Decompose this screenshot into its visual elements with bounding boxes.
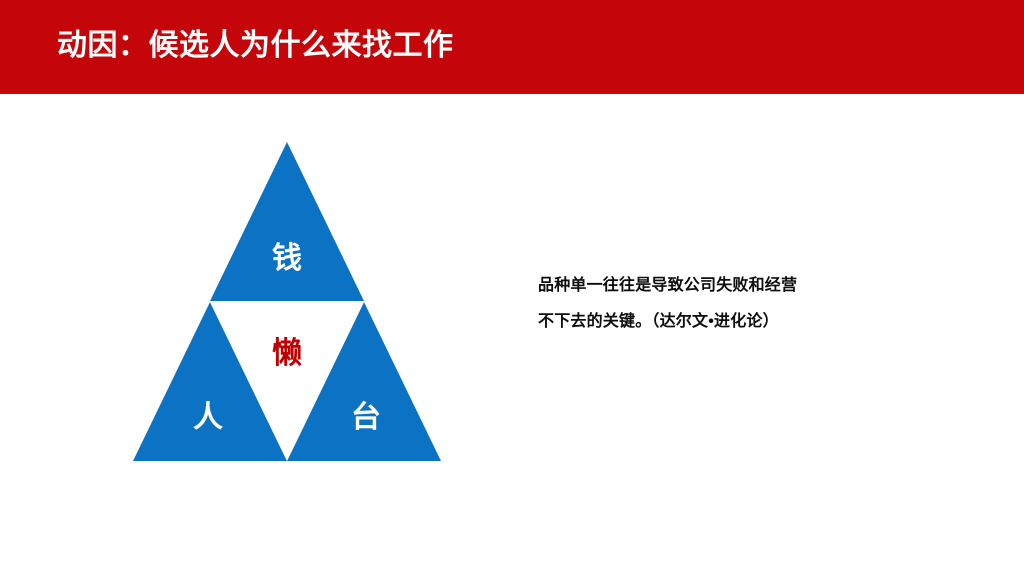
triangle-segment-center-label: 懒	[272, 337, 302, 370]
body-text-block: 品种单一往往是导致公司失败和经营 不下去的关键。（达尔文•进化论）	[538, 268, 878, 340]
body-text-line-2: 不下去的关键。（达尔文•进化论）	[538, 304, 878, 340]
triangle-segment-top[interactable]	[210, 142, 364, 301]
triangle-diagram: 钱 人 台 懒	[128, 136, 448, 468]
triangle-segment-bottom-right-label: 台	[351, 400, 381, 434]
triangle-segment-top-label: 钱	[272, 242, 302, 275]
slide-canvas: 动因：候选人为什么来找工作 钱 人 台 懒 品种单一往往是导致公司失败和经营 不…	[0, 0, 1024, 580]
title-bar: 动因：候选人为什么来找工作	[0, 0, 1024, 94]
page-title: 动因：候选人为什么来找工作	[57, 26, 454, 66]
body-text-line-1: 品种单一往往是导致公司失败和经营	[538, 268, 878, 304]
triangle-diagram-svg: 钱 人 台 懒	[128, 136, 448, 468]
triangle-segment-bottom-left-label: 人	[193, 401, 223, 434]
